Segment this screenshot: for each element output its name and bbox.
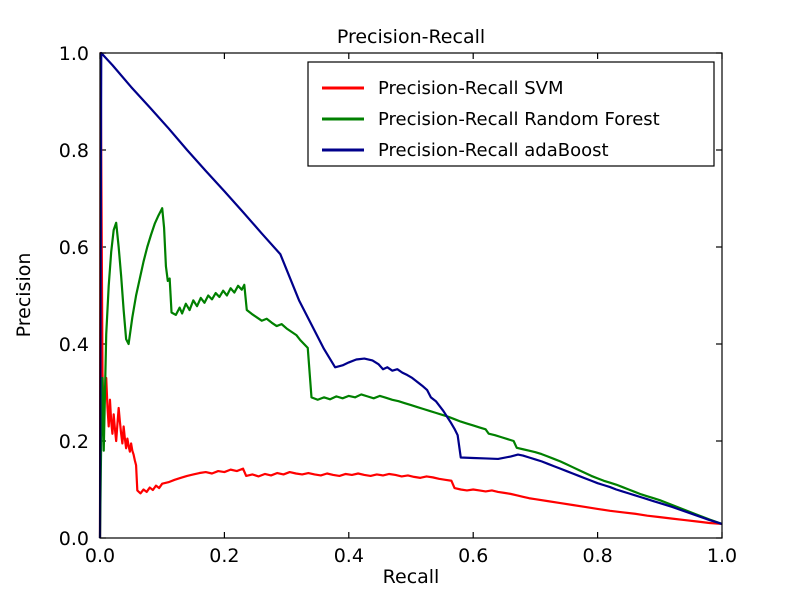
figure-canvas: 0.00.20.40.60.81.0 0.00.20.40.60.81.0 Pr… [0, 0, 800, 600]
y-axis-label: Precision [13, 253, 35, 338]
y-tick-label: 1.0 [59, 43, 89, 65]
x-tick-label: 0.6 [458, 545, 488, 567]
precision-recall-chart: 0.00.20.40.60.81.0 0.00.20.40.60.81.0 Pr… [0, 0, 800, 600]
x-tick-label: 0.8 [582, 545, 612, 567]
legend-label: Precision-Recall Random Forest [378, 109, 660, 130]
x-tick-label: 1.0 [707, 545, 737, 567]
y-tick-label: 0.4 [59, 334, 89, 356]
chart-title: Precision-Recall [337, 26, 485, 48]
chart-legend[interactable]: Precision-Recall SVMPrecision-Recall Ran… [308, 62, 714, 166]
x-tick-label: 0.4 [334, 545, 364, 567]
y-tick-label: 0.6 [59, 237, 89, 259]
x-tick-label: 0.0 [85, 545, 115, 567]
y-tick-label: 0.8 [59, 140, 89, 162]
legend-label: Precision-Recall SVM [378, 78, 564, 99]
legend-label: Precision-Recall adaBoost [378, 140, 609, 161]
y-tick-label: 0.2 [59, 431, 89, 453]
x-tick-label: 0.2 [209, 545, 239, 567]
x-axis-label: Recall [383, 566, 440, 588]
